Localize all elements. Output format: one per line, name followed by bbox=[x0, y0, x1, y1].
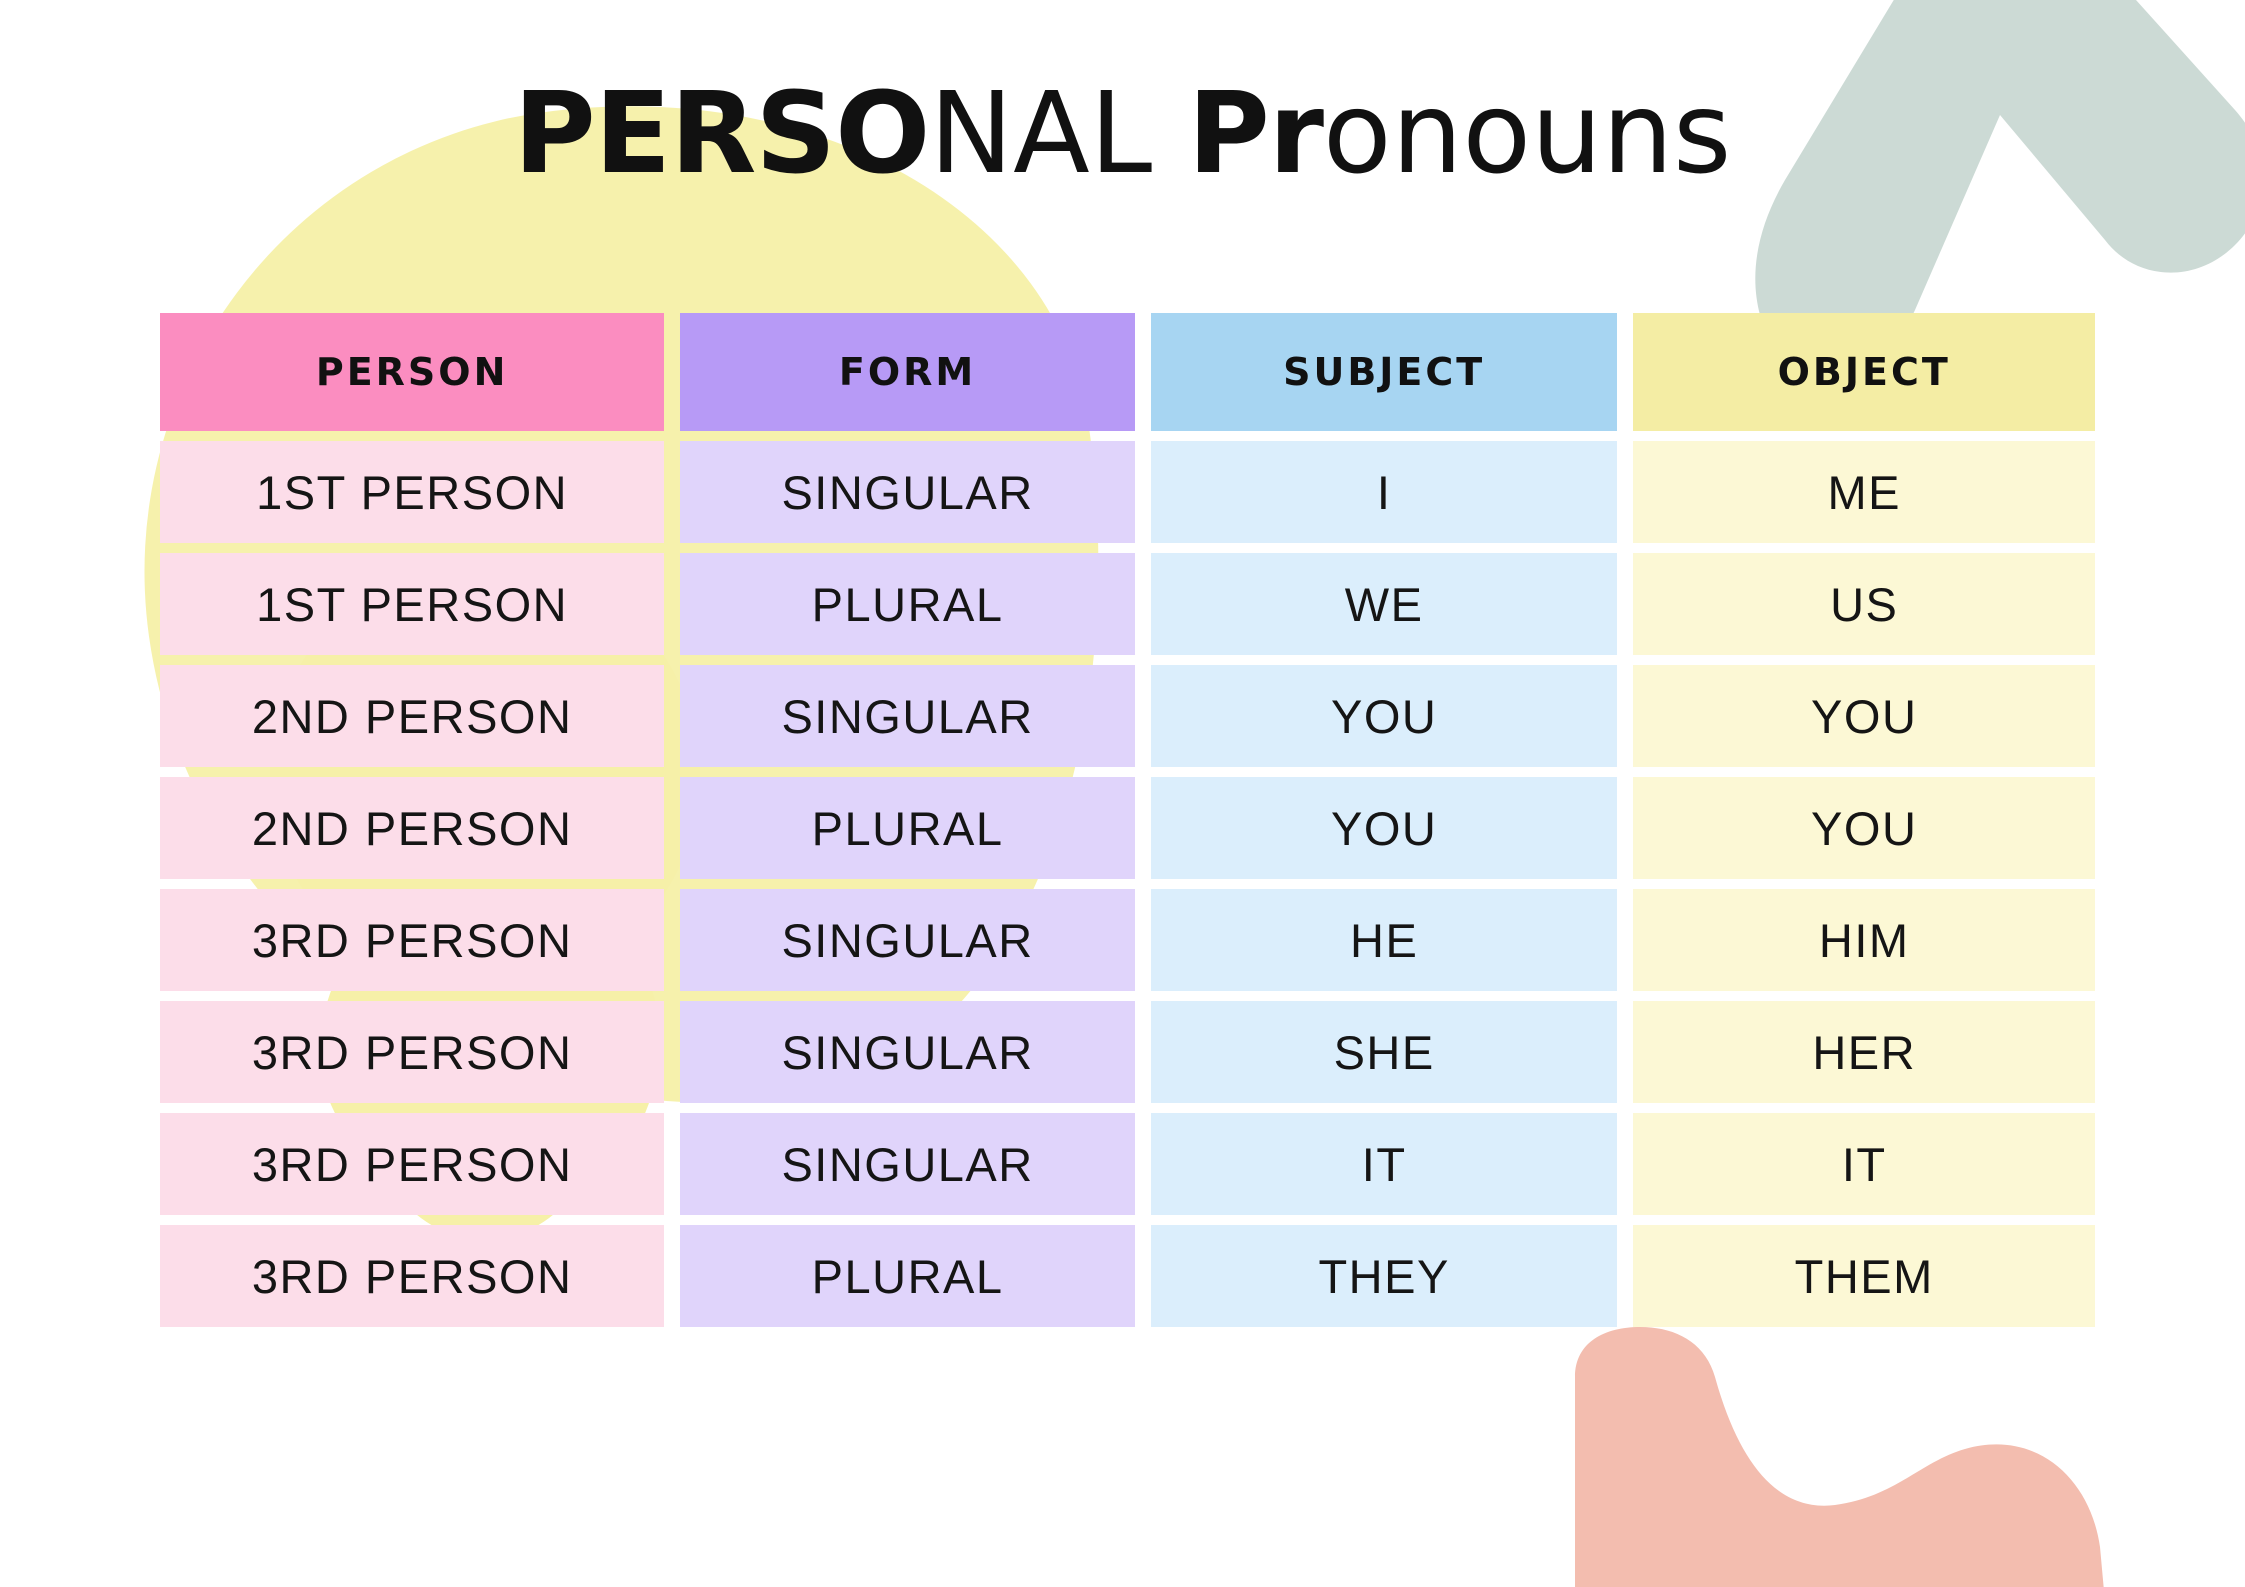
cell-subject: IT bbox=[1151, 1113, 1618, 1215]
cell-subject: YOU bbox=[1151, 665, 1618, 767]
title-segment-thin-1: NAL bbox=[929, 69, 1187, 199]
cell-subject: YOU bbox=[1151, 777, 1618, 879]
cell-object: HER bbox=[1633, 1001, 2095, 1103]
cell-subject: I bbox=[1151, 441, 1618, 543]
cell-subject: HE bbox=[1151, 889, 1618, 991]
cell-form: SINGULAR bbox=[680, 441, 1135, 543]
cell-person: 3RD PERSON bbox=[160, 1113, 664, 1215]
cell-object: THEM bbox=[1633, 1225, 2095, 1327]
cell-object: HIM bbox=[1633, 889, 2095, 991]
cell-subject: SHE bbox=[1151, 1001, 1618, 1103]
title-segment-bold-2: Pr bbox=[1188, 69, 1323, 199]
table-row: 2ND PERSON PLURAL YOU YOU bbox=[160, 777, 2095, 879]
table-row: 3RD PERSON SINGULAR IT IT bbox=[160, 1113, 2095, 1215]
cell-form: PLURAL bbox=[680, 553, 1135, 655]
cell-subject: WE bbox=[1151, 553, 1618, 655]
cell-person: 1ST PERSON bbox=[160, 553, 664, 655]
cell-person: 3RD PERSON bbox=[160, 1225, 664, 1327]
table-row: 3RD PERSON SINGULAR HE HIM bbox=[160, 889, 2095, 991]
cell-form: SINGULAR bbox=[680, 665, 1135, 767]
title-segment-bold-1: PERSO bbox=[514, 69, 930, 199]
cell-form: SINGULAR bbox=[680, 889, 1135, 991]
table-row: 1ST PERSON SINGULAR I ME bbox=[160, 441, 2095, 543]
table-row: 2ND PERSON SINGULAR YOU YOU bbox=[160, 665, 2095, 767]
pronouns-poster: PERSONAL Pronouns PERSON FORM SUBJECT OB… bbox=[0, 0, 2245, 1587]
page-title: PERSONAL Pronouns bbox=[0, 78, 2245, 190]
cell-person: 1ST PERSON bbox=[160, 441, 664, 543]
cell-object: ME bbox=[1633, 441, 2095, 543]
salmon-wave-shape bbox=[1565, 1327, 2125, 1587]
column-header-person: PERSON bbox=[160, 313, 664, 431]
cell-form: SINGULAR bbox=[680, 1113, 1135, 1215]
cell-person: 2ND PERSON bbox=[160, 777, 664, 879]
cell-form: PLURAL bbox=[680, 777, 1135, 879]
pronouns-table: PERSON FORM SUBJECT OBJECT 1ST PERSON SI… bbox=[160, 313, 2095, 1327]
cell-form: SINGULAR bbox=[680, 1001, 1135, 1103]
cell-object: IT bbox=[1633, 1113, 2095, 1215]
table-row: 3RD PERSON SINGULAR SHE HER bbox=[160, 1001, 2095, 1103]
cell-person: 3RD PERSON bbox=[160, 1001, 664, 1103]
table-row: 1ST PERSON PLURAL WE US bbox=[160, 553, 2095, 655]
cell-object: YOU bbox=[1633, 665, 2095, 767]
cell-person: 3RD PERSON bbox=[160, 889, 664, 991]
table-header-row: PERSON FORM SUBJECT OBJECT bbox=[160, 313, 2095, 431]
cell-form: PLURAL bbox=[680, 1225, 1135, 1327]
title-segment-thin-2: onouns bbox=[1323, 69, 1731, 199]
cell-object: YOU bbox=[1633, 777, 2095, 879]
cell-object: US bbox=[1633, 553, 2095, 655]
column-header-object: OBJECT bbox=[1633, 313, 2095, 431]
table-row: 3RD PERSON PLURAL THEY THEM bbox=[160, 1225, 2095, 1327]
cell-subject: THEY bbox=[1151, 1225, 1618, 1327]
column-header-subject: SUBJECT bbox=[1151, 313, 1618, 431]
column-header-form: FORM bbox=[680, 313, 1135, 431]
cell-person: 2ND PERSON bbox=[160, 665, 664, 767]
